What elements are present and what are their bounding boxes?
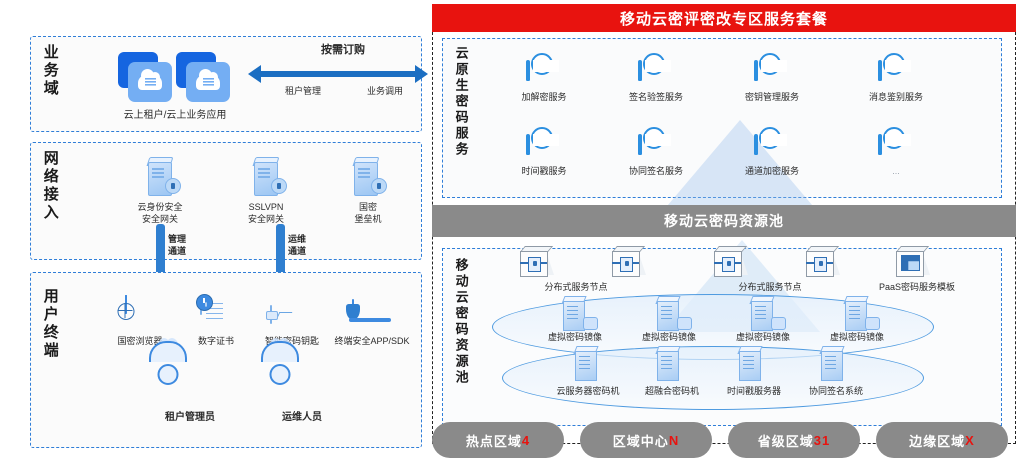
business-domain-title: 业务域	[42, 44, 58, 128]
ops-channel-label-1: 运维	[288, 234, 306, 245]
region-pill-edge-text: 边缘区域	[909, 431, 965, 450]
region-pill-province[interactable]: 省级区域31	[728, 422, 860, 458]
hyperconverged-hsm-icon	[654, 346, 688, 386]
management-channel-bar	[156, 224, 165, 278]
virtual-crypto-image-label-2: 虚拟密码镜像	[620, 332, 718, 342]
region-pill-province-text: 省级区域	[758, 431, 814, 450]
ops-channel-bar	[276, 224, 285, 278]
crypto-resource-pool-banner: 移动云密码资源池	[432, 205, 1016, 237]
usb-key-icon	[270, 306, 272, 324]
collaborative-signature-service-icon	[638, 136, 642, 154]
ops-channel-label-2: 通道	[288, 246, 306, 257]
cloud-identity-gateway-icon	[146, 156, 176, 196]
virtual-crypto-image-label-1: 虚拟密码镜像	[526, 332, 624, 342]
shield-globe-icon	[125, 296, 127, 314]
diagram-canvas: 业务域 云上租户/云上业务应用 按需订购 租户管理 业务调用 网络接入 云身份安…	[0, 0, 1024, 476]
virtual-crypto-image-icon-3	[748, 296, 778, 330]
more-services-label: ...	[846, 166, 946, 176]
channel-encryption-service-icon	[754, 136, 758, 154]
virtual-crypto-image-icon-2	[654, 296, 684, 330]
sslvpn-gateway-icon	[252, 156, 282, 196]
timestamp-server-icon	[736, 346, 770, 386]
ops-staff-label: 运维人员	[252, 412, 352, 424]
cloud-tenant-app-icon-1	[118, 52, 174, 104]
network-access-title: 网络接入	[42, 150, 58, 254]
cloud-tenant-app-label: 云上租户/云上业务应用	[100, 110, 250, 122]
cloud-tenant-app-icon-2	[176, 52, 232, 104]
order-arrow-line	[260, 71, 415, 77]
distributed-node-icon-3	[714, 246, 748, 276]
sm-bastion-host-label-1: 国密	[318, 202, 418, 212]
paas-crypto-template-label: PaaS密码服务模板	[852, 282, 982, 292]
pool-ellipse-2	[502, 346, 924, 410]
region-pill-center-count: N	[669, 433, 679, 448]
message-auth-service-label: 消息鉴别服务	[846, 92, 946, 102]
tenant-management-label: 租户管理	[268, 86, 338, 96]
sm-bastion-host-label-2: 堡垒机	[318, 214, 418, 224]
collaborative-signature-service-label: 协同签名服务	[606, 166, 706, 176]
endpoint-security-app-label: 终端安全APP/SDK	[316, 336, 428, 346]
virtual-crypto-image-label-4: 虚拟密码镜像	[808, 332, 906, 342]
region-pill-center[interactable]: 区域中心N	[580, 422, 712, 458]
cloud-server-hsm-icon	[572, 346, 606, 386]
channel-encryption-service-label: 通道加密服务	[722, 166, 822, 176]
signature-verify-service-icon	[638, 62, 642, 80]
distributed-node-icon-4	[806, 246, 840, 276]
region-pill-hotspot[interactable]: 热点区域4	[432, 422, 564, 458]
management-channel-label-1: 管理	[168, 234, 186, 245]
encryption-service-icon	[526, 62, 530, 80]
encryption-service-label: 加解密服务	[494, 92, 594, 102]
cloud-identity-gateway-label-1: 云身份安全	[110, 202, 210, 212]
tenant-admin-label: 租户管理员	[140, 412, 240, 424]
laptop-shield-icon	[352, 300, 354, 318]
key-management-service-icon	[754, 62, 758, 80]
certificate-icon	[200, 297, 202, 315]
distributed-node-icon-1	[520, 246, 554, 276]
right-service-column: 移动云密评密改专区服务套餐 云原生密码服务 加解密服务 签名验签服务 密钥管理服…	[432, 0, 1016, 476]
timestamp-service-icon	[526, 136, 530, 154]
collaborative-signature-system-icon	[818, 346, 852, 386]
service-package-banner: 移动云密评密改专区服务套餐	[432, 4, 1016, 32]
cloud-native-crypto-title: 云原生密码服务	[454, 46, 468, 192]
region-pill-center-text: 区域中心	[613, 431, 669, 450]
region-pill-edge-count: X	[965, 433, 975, 448]
crypto-resource-pool-title: 移动云密码资源池	[454, 258, 468, 420]
message-auth-service-icon	[878, 62, 882, 80]
timestamp-service-label: 时间戳服务	[494, 166, 594, 176]
region-pill-province-count: 31	[814, 433, 830, 448]
on-demand-order-label: 按需订购	[288, 44, 398, 57]
paas-crypto-template-icon	[896, 246, 930, 276]
distributed-node-label-2: 分布式服务节点	[714, 282, 826, 292]
virtual-crypto-image-icon-4	[842, 296, 872, 330]
cloud-identity-gateway-label-2: 安全网关	[110, 214, 210, 224]
virtual-crypto-image-icon-1	[560, 296, 590, 330]
distributed-node-label-1: 分布式服务节点	[520, 282, 632, 292]
arrow-head-right	[415, 65, 428, 83]
signature-verify-service-label: 签名验签服务	[606, 92, 706, 102]
sslvpn-gateway-label-1: SSLVPN	[216, 202, 316, 212]
distributed-node-icon-2	[612, 246, 646, 276]
key-management-service-label: 密钥管理服务	[722, 92, 822, 102]
virtual-crypto-image-label-3: 虚拟密码镜像	[714, 332, 812, 342]
sslvpn-gateway-label-2: 安全网关	[216, 214, 316, 224]
user-terminal-title: 用户终端	[42, 288, 58, 404]
collaborative-signature-system-label: 协同签名系统	[782, 386, 890, 396]
business-invocation-label: 业务调用	[350, 86, 420, 96]
left-architecture-column: 业务域 云上租户/云上业务应用 按需订购 租户管理 业务调用 网络接入 云身份安…	[30, 0, 422, 476]
region-pill-hotspot-count: 4	[522, 433, 530, 448]
region-pill-hotspot-text: 热点区域	[466, 431, 522, 450]
region-pill-edge[interactable]: 边缘区域X	[876, 422, 1008, 458]
more-services-icon	[878, 136, 882, 154]
management-channel-label-2: 通道	[168, 246, 186, 257]
sm-bastion-host-icon	[352, 156, 382, 196]
